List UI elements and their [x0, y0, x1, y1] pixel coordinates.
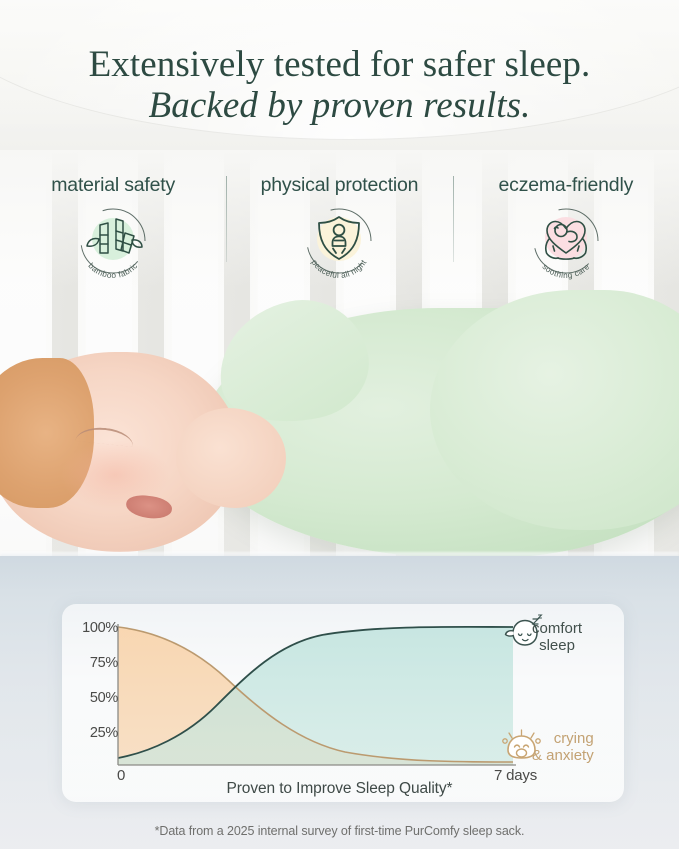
- page-title: Extensively tested for safer sleep. Back…: [0, 44, 679, 127]
- y-tick-label: 75%: [90, 655, 118, 671]
- badge-seal-text: bamboo fabric: [87, 261, 140, 280]
- badge-seal-text: soothing care: [540, 262, 591, 280]
- badge-eczema-friendly: eczema-friendly: [453, 174, 679, 294]
- badge-seal-text: peaceful all night: [310, 258, 369, 280]
- svg-text:soothing care: soothing care: [540, 262, 591, 280]
- badge-label: material safety: [0, 174, 226, 197]
- badge-label: eczema-friendly: [453, 174, 679, 197]
- legend-comfort-sleep: comfort sleep: [532, 620, 582, 655]
- legend-label-line-2: sleep: [532, 637, 582, 654]
- shield-seal: peaceful all night: [296, 199, 382, 285]
- footnote: *Data from a 2025 internal survey of fir…: [0, 824, 679, 838]
- bamboo-stalks-icon: bamboo fabric: [70, 199, 156, 285]
- hands-heart-baby-icon: soothing care: [523, 199, 609, 285]
- product-infographic: Extensively tested for safer sleep. Back…: [0, 0, 679, 849]
- badge-label: physical protection: [226, 174, 452, 197]
- chart-caption: Proven to Improve Sleep Quality*: [0, 780, 679, 798]
- svg-text:bamboo fabric: bamboo fabric: [87, 261, 140, 280]
- legend-crying-anxiety: crying & anxiety: [532, 730, 594, 765]
- legend-label-line-1: crying: [532, 730, 594, 747]
- headline-line-2: Backed by proven results.: [0, 85, 679, 126]
- badge-material-safety: material safety: [0, 174, 226, 294]
- trust-badges: material safety: [0, 174, 679, 294]
- badge-physical-protection: physical protection: [226, 174, 452, 294]
- soothing-seal: soothing care: [523, 199, 609, 285]
- y-tick-label: 100%: [82, 620, 118, 636]
- y-axis-ticks: 100% 75% 50% 25%: [58, 620, 118, 770]
- legend-label-line-1: comfort: [532, 620, 582, 637]
- headline-line-1: Extensively tested for safer sleep.: [0, 44, 679, 85]
- y-tick-label: 25%: [90, 725, 118, 741]
- bamboo-seal: bamboo fabric: [70, 199, 156, 285]
- shield-baby-icon: peaceful all night: [296, 199, 382, 285]
- svg-text:peaceful all night: peaceful all night: [310, 258, 369, 280]
- y-tick-label: 50%: [90, 690, 118, 706]
- legend-label-line-2: & anxiety: [532, 747, 594, 764]
